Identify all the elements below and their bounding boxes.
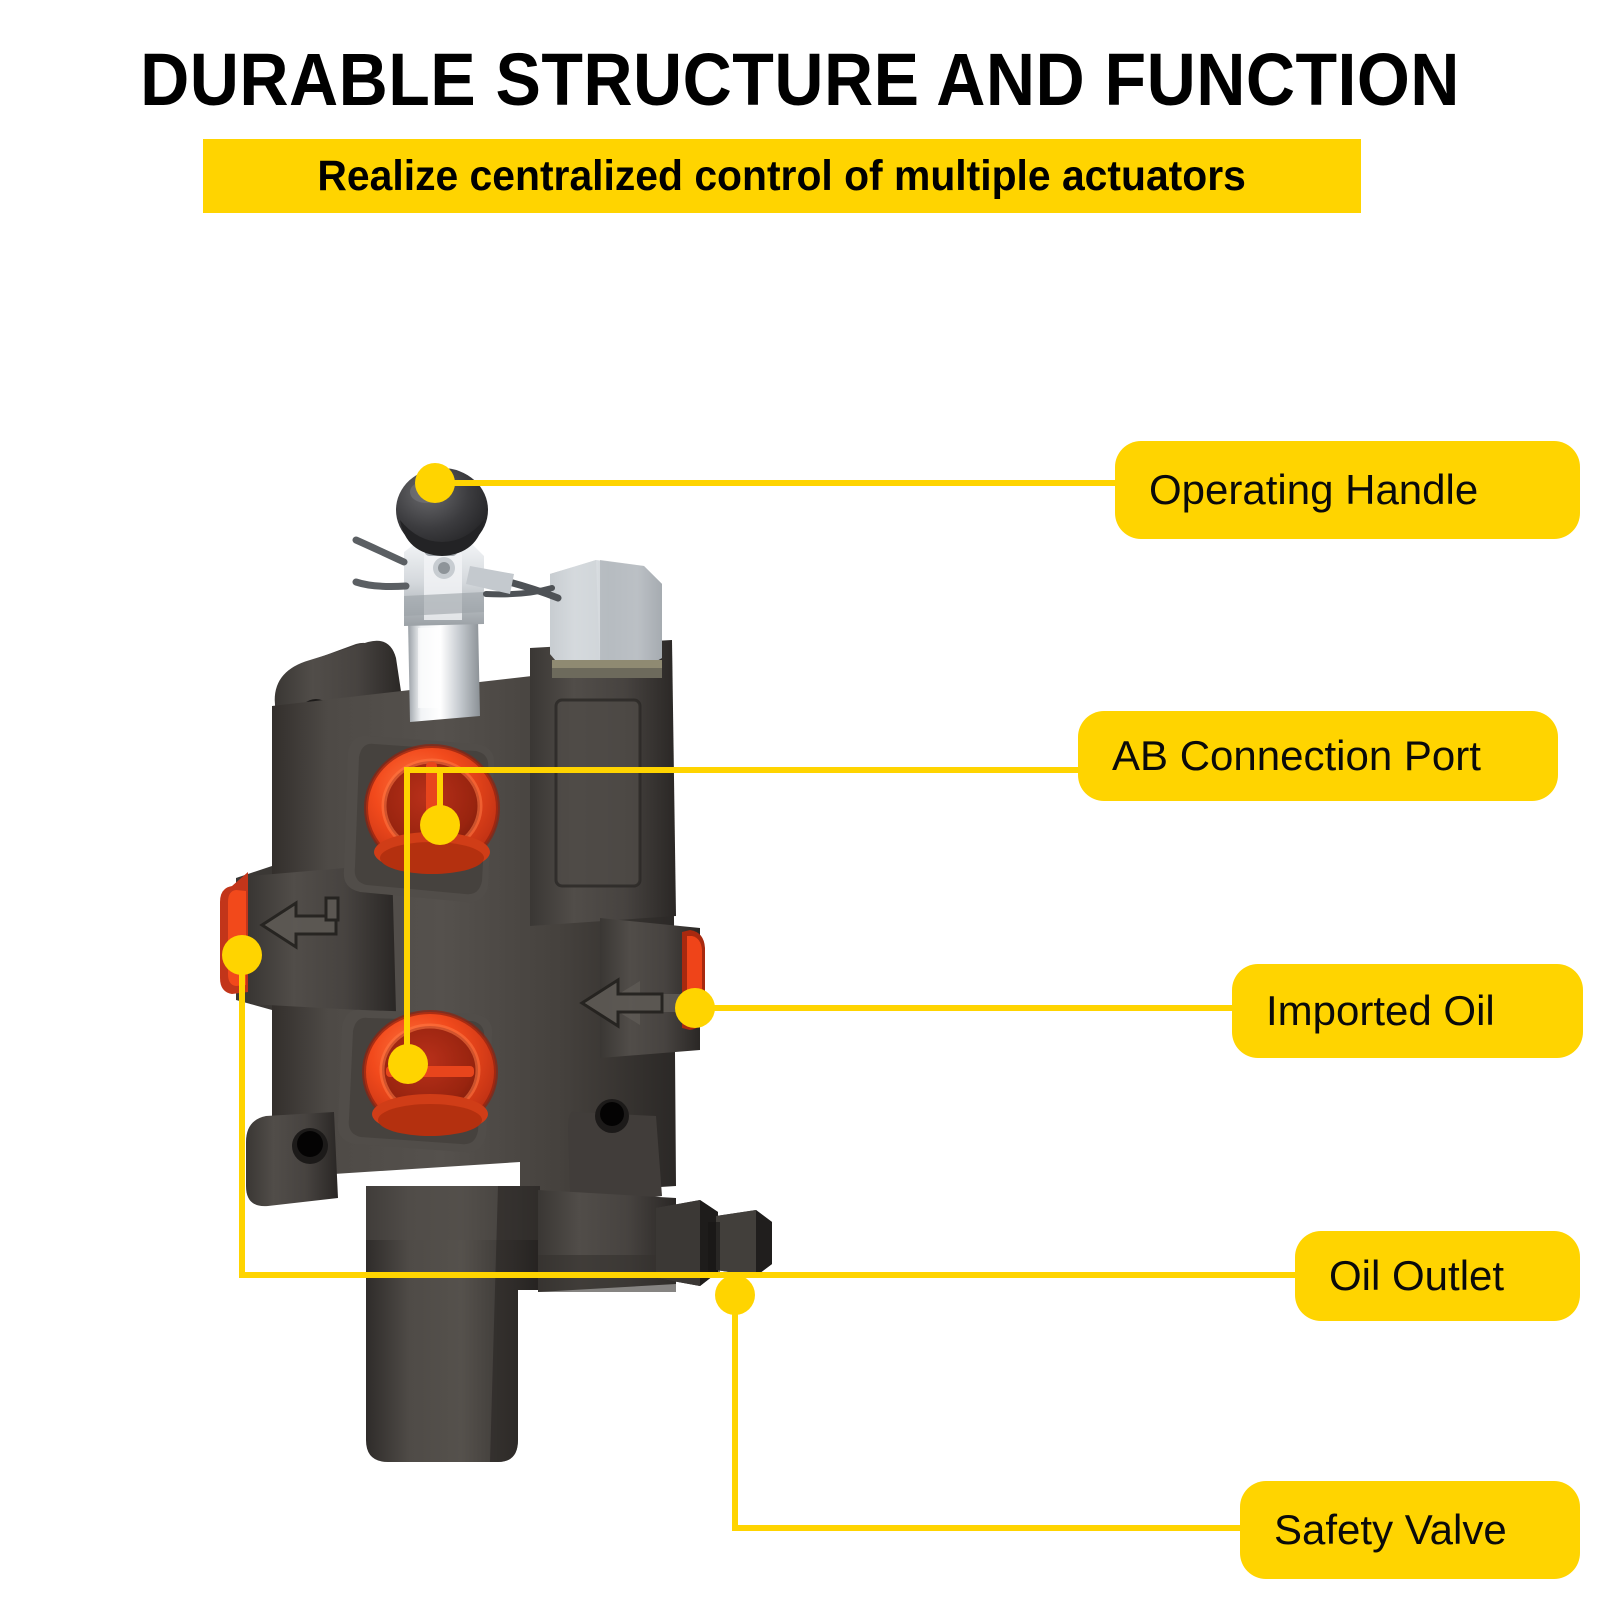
callout-label: AB Connection Port (1112, 735, 1481, 777)
leader-dot-oil-outlet (222, 935, 262, 975)
leader-dot-operating-handle (415, 463, 455, 503)
leader-line-safety-valve-horizontal (732, 1525, 1248, 1531)
leader-dot-safety-valve (715, 1275, 755, 1315)
leader-line-oil-outlet-vertical (239, 968, 245, 1278)
leader-line-ab-connection-port (404, 767, 1088, 773)
leader-dot-ab-connection-port-lower (388, 1044, 428, 1084)
callout-oil-outlet[interactable]: Oil Outlet (1295, 1231, 1580, 1321)
callout-label: Safety Valve (1274, 1509, 1507, 1551)
leader-line-safety-valve-vertical (732, 1305, 738, 1531)
leader-line-operating-handle (450, 480, 1122, 486)
callout-imported-oil[interactable]: Imported Oil (1232, 964, 1583, 1058)
callout-label: Operating Handle (1149, 469, 1478, 511)
callout-label: Imported Oil (1266, 990, 1495, 1032)
callout-safety-valve[interactable]: Safety Valve (1240, 1481, 1580, 1579)
leader-dot-ab-connection-port-upper (420, 805, 460, 845)
callout-operating-handle[interactable]: Operating Handle (1115, 441, 1580, 539)
callout-label: Oil Outlet (1329, 1255, 1504, 1297)
callout-ab-connection-port[interactable]: AB Connection Port (1078, 711, 1558, 801)
leader-line-oil-outlet-horizontal (239, 1272, 1301, 1278)
leader-dot-imported-oil (675, 988, 715, 1028)
leader-line-ab-lower-branch (404, 770, 410, 1068)
leader-line-imported-oil (705, 1005, 1239, 1011)
